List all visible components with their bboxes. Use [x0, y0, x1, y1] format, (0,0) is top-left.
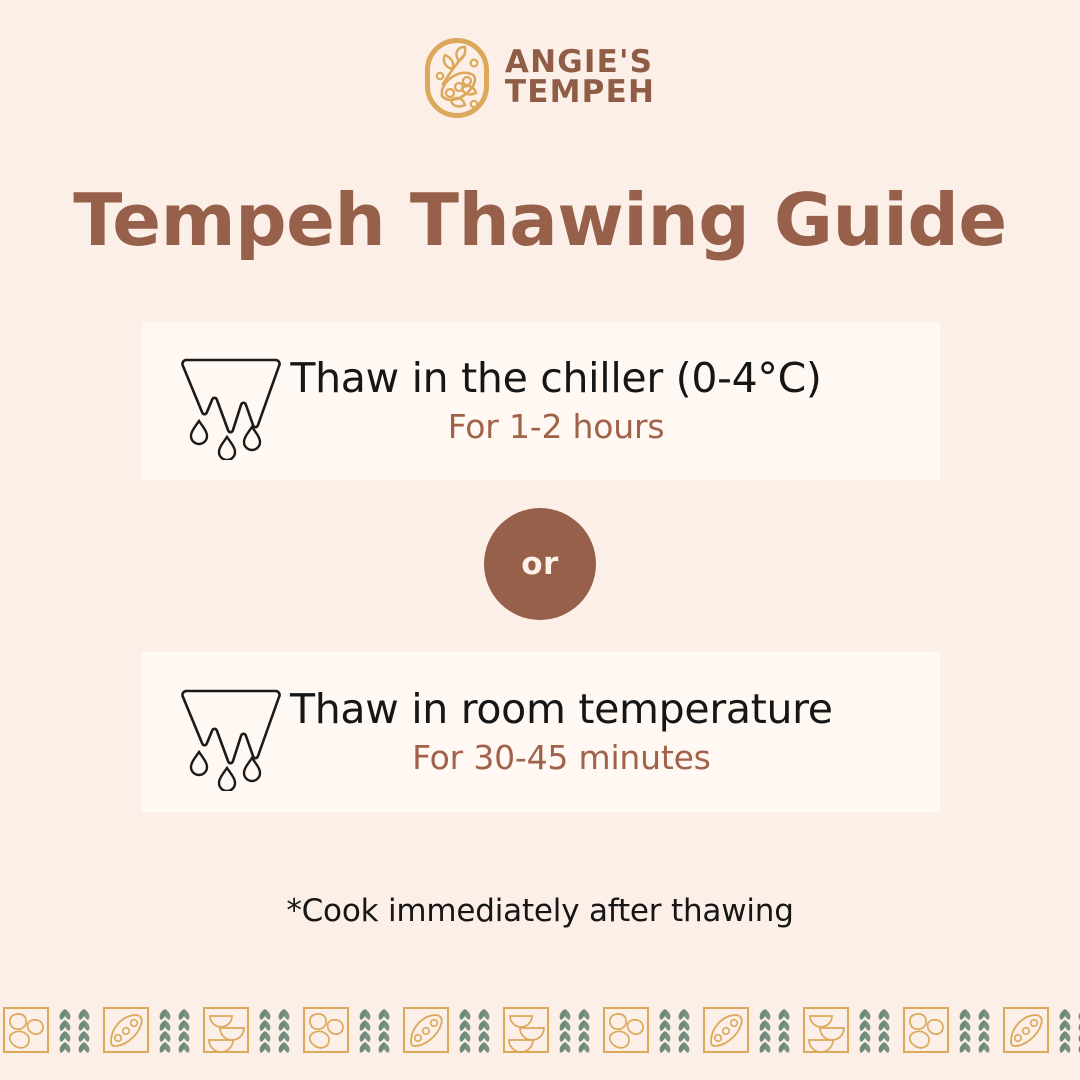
brand-logo: ANGIE'S TEMPEH	[0, 34, 1080, 122]
soybean-pod-leaves-logo-icon	[425, 38, 489, 118]
or-divider-label: or	[521, 546, 559, 582]
thaw-option-room-temp-duration: For 30-45 minutes	[290, 738, 833, 777]
brand-wordmark: ANGIE'S TEMPEH	[505, 48, 655, 108]
brand-name-line-2: TEMPEH	[505, 78, 655, 108]
footer-decorative-pattern	[0, 984, 1080, 1080]
thaw-option-chiller-duration: For 1-2 hours	[290, 407, 822, 446]
thaw-option-chiller-card: Thaw in the chiller (0-4°C) For 1-2 hour…	[142, 322, 940, 480]
thaw-option-room-temp-text: Thaw in room temperature For 30-45 minut…	[290, 687, 951, 778]
cook-immediately-note: *Cook immediately after thawing	[0, 893, 1080, 929]
thaw-option-room-temp-card: Thaw in room temperature For 30-45 minut…	[142, 652, 940, 812]
melting-ice-drip-icon	[172, 342, 290, 460]
or-divider-badge: or	[484, 508, 596, 620]
thaw-option-chiller-text: Thaw in the chiller (0-4°C) For 1-2 hour…	[290, 356, 940, 447]
thaw-option-chiller-heading: Thaw in the chiller (0-4°C)	[290, 356, 822, 402]
melting-ice-drip-icon	[172, 673, 290, 791]
thaw-option-room-temp-heading: Thaw in room temperature	[290, 687, 833, 733]
page-title: Tempeh Thawing Guide	[0, 178, 1080, 262]
